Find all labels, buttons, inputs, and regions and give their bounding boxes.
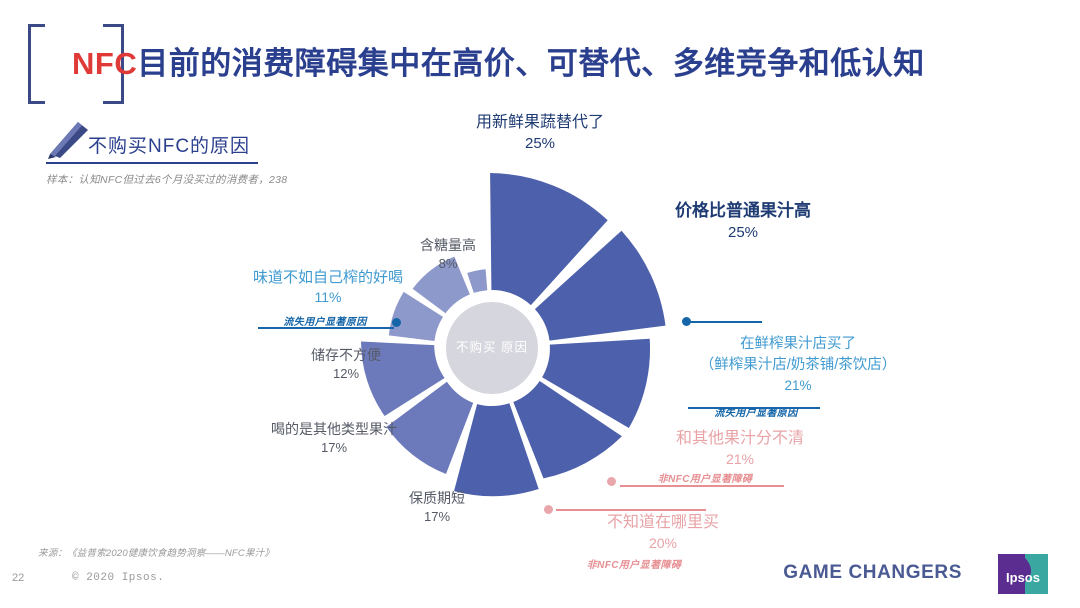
label-value: 25% <box>430 134 650 154</box>
tag-churn-reason-taste: 流失用户显著原因 <box>262 313 388 328</box>
chart-hub <box>446 302 538 394</box>
leader-line-dont-know-where <box>556 509 706 511</box>
label-text: 保质期短 <box>372 489 502 508</box>
page-title-highlight: NFC <box>72 46 137 81</box>
leader-stem-juice-shop <box>690 321 762 323</box>
label-value: 11% <box>222 288 434 307</box>
label-text: 喝的是其他类型果汁 <box>248 420 420 439</box>
label-other-juice-types: 喝的是其他类型果汁 17% <box>248 420 420 456</box>
label-text: 用新鲜果蔬替代了 <box>430 112 650 134</box>
label-text: 不知道在哪里买 <box>560 512 766 534</box>
ipsos-logo-text: Ipsos <box>1006 570 1040 585</box>
copyright-note: © 2020 Ipsos. <box>72 572 164 584</box>
page-title: NFC目前的消费障碍集中在高价、可替代、多维竞争和低认知 <box>72 38 925 83</box>
label-value: 21% <box>672 376 924 396</box>
label-dont-know-where: 不知道在哪里买 20% <box>560 512 766 552</box>
label-value: 12% <box>278 365 414 383</box>
source-note: 来源：《益普索2020健康饮食趋势洞察——NFC果汁》 <box>38 545 274 559</box>
tagline-game-changers: GAME CHANGERS <box>783 562 962 584</box>
label-high-sugar: 含糖量高 8% <box>390 236 506 272</box>
label-bought-at-juice-shop: 在鲜榨果汁店买了 （鲜榨果汁店/奶茶铺/茶饮店） 21% <box>672 334 924 396</box>
label-value: 25% <box>628 223 858 243</box>
label-value: 21% <box>632 450 848 469</box>
label-value: 8% <box>390 255 506 273</box>
leader-dot-dont-know-where <box>544 505 553 514</box>
label-hard-to-store: 储存不方便 12% <box>278 346 414 382</box>
section-subtitle: 不购买NFC的原因 <box>88 131 250 158</box>
label-text: 价格比普通果汁高 <box>628 200 858 223</box>
page-number: 22 <box>12 572 24 584</box>
wedge-high-sugar[interactable] <box>467 269 487 293</box>
label-value: 17% <box>248 439 420 457</box>
label-text: 和其他果汁分不清 <box>632 428 848 450</box>
label-value: 17% <box>372 508 502 526</box>
label-indistinguishable: 和其他果汁分不清 21% <box>632 428 848 468</box>
label-text: 含糖量高 <box>390 236 506 255</box>
subtitle-underline <box>46 162 258 164</box>
leader-dot-taste-worse <box>392 318 401 327</box>
tag-churn-reason-juice-shop: 流失用户显著原因 <box>692 404 820 419</box>
label-price-higher: 价格比普通果汁高 25% <box>628 200 858 243</box>
label-fresh-fruit-substitute: 用新鲜果蔬替代了 25% <box>430 112 650 154</box>
label-text: 在鲜榨果汁店买了 <box>672 334 924 355</box>
ipsos-logo: Ipsos <box>984 552 1062 596</box>
tag-nonuser-barrier-indistinguishable: 非NFC用户显著障碍 <box>630 470 780 485</box>
label-taste-worse-than-homemade: 味道不如自己榨的好喝 11% <box>222 268 434 307</box>
leader-dot-indistinguishable <box>607 477 616 486</box>
label-short-shelf-life: 保质期短 17% <box>372 489 502 525</box>
slide-canvas: NFC目前的消费障碍集中在高价、可替代、多维竞争和低认知 不购买NFC的原因 样… <box>0 0 1080 608</box>
leader-line-indistinguishable <box>620 485 784 487</box>
page-title-rest: 目前的消费障碍集中在高价、可替代、多维竞争和低认知 <box>137 46 925 81</box>
label-text-2: （鲜榨果汁店/奶茶铺/茶饮店） <box>672 355 924 376</box>
label-value: 20% <box>560 534 766 553</box>
label-text: 储存不方便 <box>278 346 414 365</box>
tag-nonuser-barrier-dont-know: 非NFC用户显著障碍 <box>558 556 710 571</box>
pencil-icon <box>44 118 92 160</box>
